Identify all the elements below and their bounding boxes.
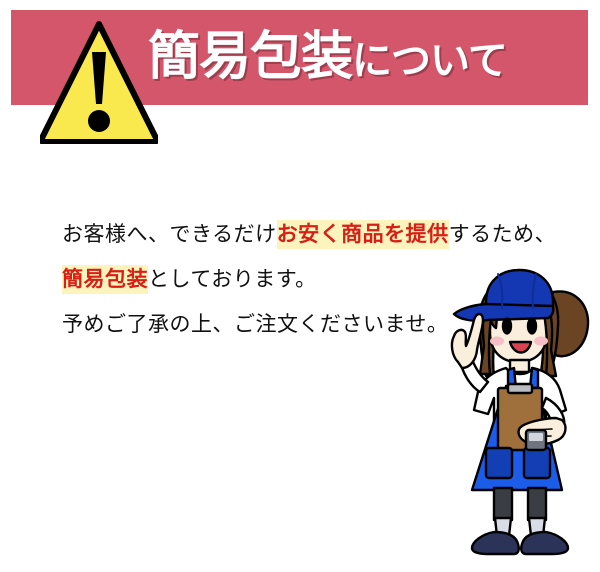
cap-crown xyxy=(486,270,553,308)
page-title: 簡易包装について xyxy=(148,22,568,94)
device-screen xyxy=(529,433,543,441)
page-title-kana: について xyxy=(352,38,507,84)
cheek-right xyxy=(534,336,548,345)
warning-triangle-icon xyxy=(40,18,158,144)
notice-line-1: お客様へ、できるだけお安く商品を提供するため、 xyxy=(62,212,562,257)
shoe-right xyxy=(521,532,568,554)
delivery-staff-character xyxy=(436,268,600,556)
hand-pointing-up xyxy=(452,314,483,368)
notice-page: 簡易包装について お客様へ、できるだけお安く商品を提供するため、 簡易包装として… xyxy=(0,0,600,572)
line1-prefix: お客様へ、できるだけ xyxy=(62,222,277,246)
pocket-left xyxy=(486,448,512,478)
line2-emphasis: 簡易包装 xyxy=(62,265,148,294)
pocket-right xyxy=(524,448,550,478)
line1-suffix: するため、 xyxy=(449,222,557,246)
leg-right xyxy=(528,488,546,520)
eye-right xyxy=(527,317,537,334)
line1-emphasis: お安く商品を提供 xyxy=(277,220,449,249)
page-title-kanji: 簡易包装 xyxy=(148,27,352,87)
cheek-left xyxy=(490,336,504,345)
clipboard-clip xyxy=(508,384,532,393)
leg-left xyxy=(494,488,512,520)
line2-suffix: としております。 xyxy=(148,267,317,291)
eye-left xyxy=(502,317,512,334)
cap-brim xyxy=(454,304,553,321)
shoe-left xyxy=(472,532,519,554)
line3-text: 予めご了承の上、ご注文くださいませ。 xyxy=(62,312,448,336)
